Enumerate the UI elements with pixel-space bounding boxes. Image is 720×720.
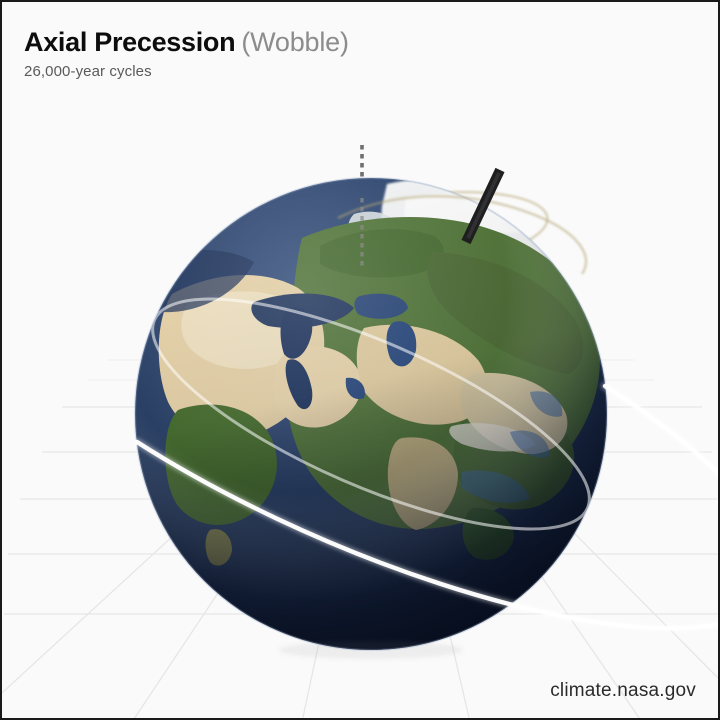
title-qualifier-text: (Wobble) — [241, 27, 348, 57]
globe-surface — [126, 177, 616, 650]
source-credit: climate.nasa.gov — [550, 680, 696, 702]
title-block: Axial Precession(Wobble) 26,000-year cyc… — [24, 28, 349, 80]
globe-contact-shadow — [279, 641, 463, 659]
title-main-text: Axial Precession — [24, 27, 235, 57]
earth-globe — [126, 177, 616, 650]
globe-scene — [2, 2, 720, 720]
page-title: Axial Precession(Wobble) — [24, 28, 349, 56]
visualization-canvas: Axial Precession(Wobble) 26,000-year cyc… — [0, 0, 720, 720]
page-subtitle: 26,000-year cycles — [24, 63, 349, 80]
